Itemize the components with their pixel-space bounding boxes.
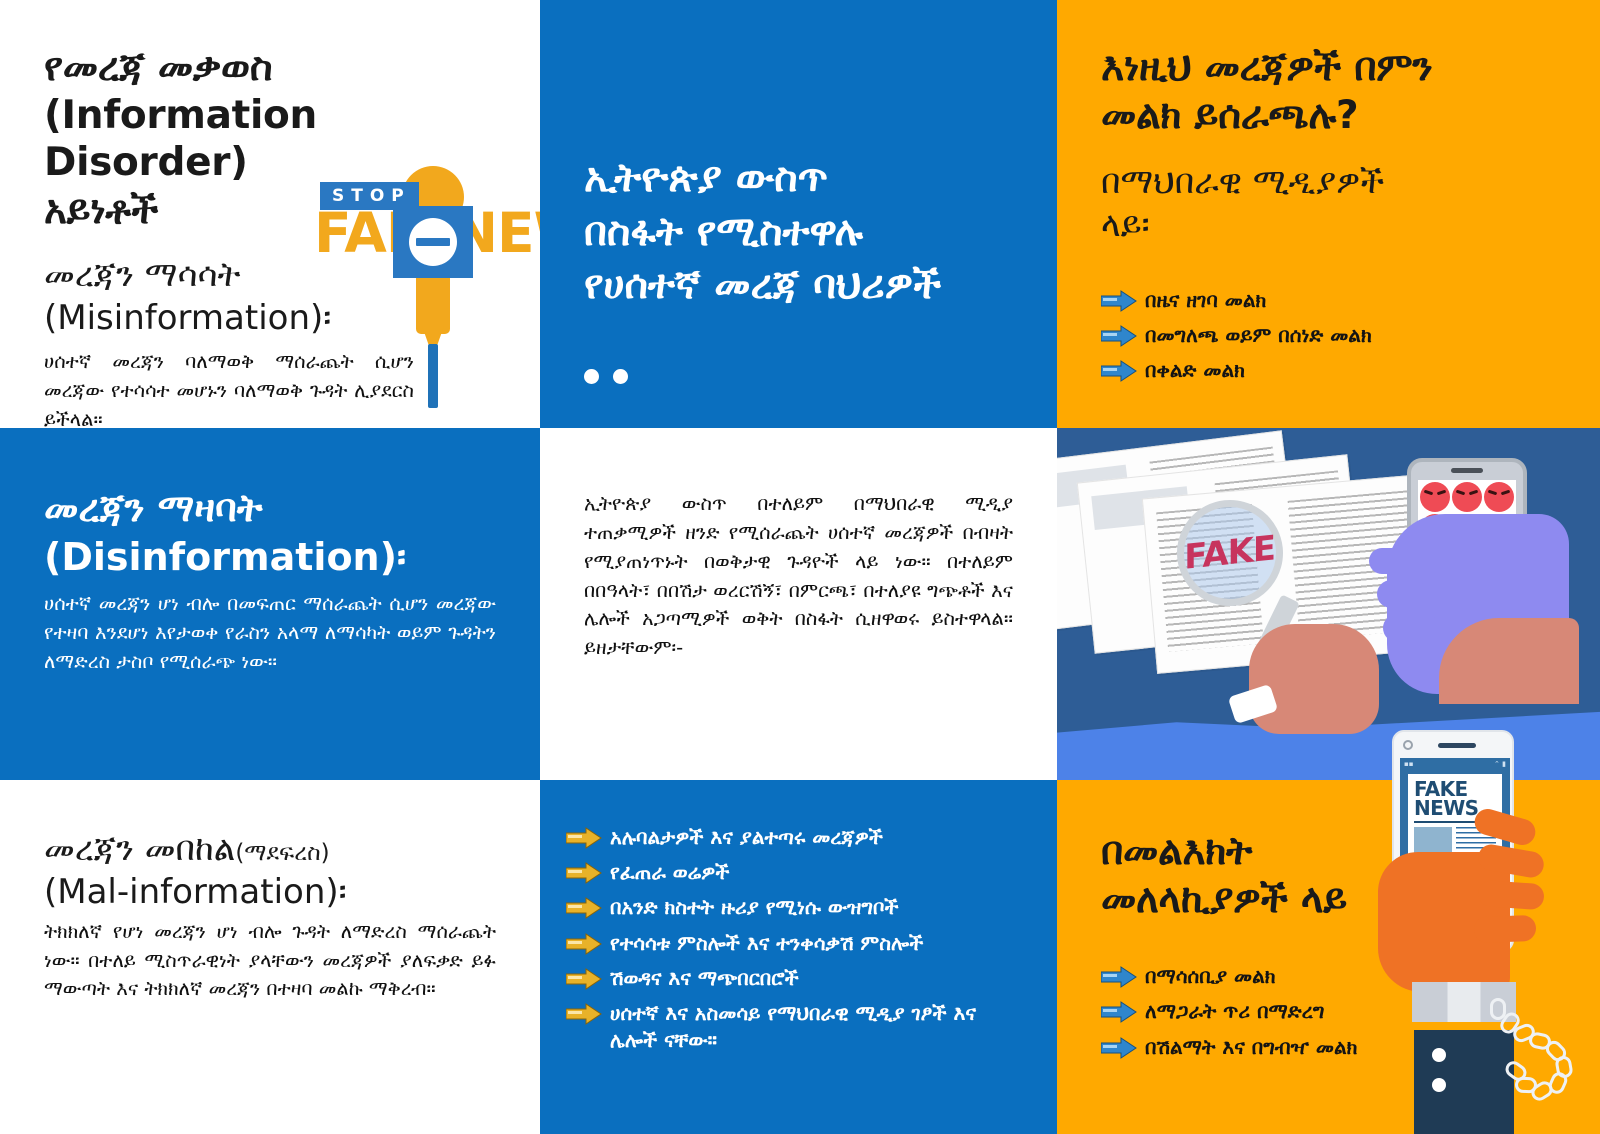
panel-forms-of-fake-news: አሉባልታዎች እና ያልተጣሩ መረጃዎች የፈጠራ ወሬዎች በአንድ ክስ… (540, 780, 1057, 1134)
list-item-label: የተሳሳቱ ምስሎች እና ተንቀሳቃሽ ምስሎች (610, 930, 923, 957)
panel-messaging-apps: በመልእክት መለላኪያዎች ላይ በማሳሰቢያ መልክ ለማጋራት ጥሪ በማ… (1057, 780, 1600, 1134)
panel-ethiopia-headline: ኢትዮጵያ ውስጥ በስፋት የሚስተዋሉ የሀሰተኛ መረጃ ባህሪዎች (540, 0, 1057, 428)
list-item: ለማጋራት ጥሪ በማድረግ (1101, 998, 1556, 1025)
angry-reaction-icon (1452, 482, 1482, 512)
list-item-label: በአንድ ክስተት ዙሪያ የሚነሱ ውዝግቦች (610, 894, 899, 921)
messaging-bullet-list: በማሳሰቢያ መልክ ለማጋራት ጥሪ በማድረግ በሽልማት እና በግብዣ … (1101, 963, 1556, 1061)
malinformation-heading-line-1: መረጃን መበከል(ማደፍረስ) (44, 828, 496, 871)
list-item: አሉባልታዎች እና ያልተጣሩ መረጃዎች (566, 824, 1029, 851)
forms-bullet-list: አሉባልታዎች እና ያልተጣሩ መረጃዎች የፈጠራ ወሬዎች በአንድ ክስ… (566, 824, 1029, 1054)
stop-fake-news-logo: STOP FAKE NEWS (306, 160, 536, 400)
angry-reaction-icon (1484, 482, 1514, 512)
social-media-subheading-line-1: በማህበራዊ ሚዲያዎች (1101, 161, 1556, 204)
list-item-label: የፈጠራ ወሬዎች (610, 859, 729, 886)
social-media-subheading-line-2: ላይ፡ (1101, 204, 1556, 247)
disinformation-heading: መረጃን ማዛባት (Disinformation)፡ (44, 428, 496, 583)
malinformation-body: ትክክለኛ የሆነ መረጃን ሆነ ብሎ ጉዳት ለማድረስ ማሰራጨት ነው።… (44, 918, 496, 1005)
list-item: በአንድ ክስተት ዙሪያ የሚነሱ ውዝግቦች (566, 894, 1029, 921)
list-item: በማሳሰቢያ መልክ (1101, 963, 1556, 990)
question-heading-line-2: መልክ ይሰራጫሉ? (1101, 92, 1556, 140)
arrow-right-icon (1101, 360, 1137, 382)
fake-stamp-label: FAKE (1185, 528, 1276, 578)
malinformation-heading-paren: (ማደፍረስ) (235, 840, 329, 866)
arrow-right-icon (566, 933, 602, 955)
malinformation-heading-amharic: መረጃን መበከል (44, 829, 235, 869)
messaging-heading-line-1: በመልእክት (1101, 828, 1556, 876)
disinformation-body: ሀሰተኛ መረጃን ሆነ ብሎ በመፍጠር ማሰራጨት ሲሆን መረጃው የተዛ… (44, 589, 496, 677)
social-media-bullet-list: በዜና ዘገባ መልክ በመግለጫ ወይም በሰነድ መልክ በቀልድ መልክ (1101, 287, 1556, 385)
microphone-taper-icon (422, 326, 444, 346)
list-item: በሽልማት እና በግብዣ መልክ (1101, 1034, 1556, 1061)
arrow-right-icon (1101, 1001, 1137, 1023)
list-item: በመግለጫ ወይም በሰነድ መልክ (1101, 322, 1556, 349)
list-item-label: ሽወዳና እና ማጭበርበሮች (610, 965, 799, 992)
disinformation-heading-amharic: መረጃን ማዛባት (44, 484, 496, 533)
headline: ኢትዮጵያ ውስጥ በስፋት የሚስተዋሉ የሀሰተኛ መረጃ ባህሪዎች (584, 152, 1013, 313)
panel-information-disorder: የመረጃ መቃወስ (Information Disorder) አይነቶች መ… (0, 0, 540, 428)
headline-line-3: የሀሰተኛ መረጃ ባህሪዎች (584, 259, 1013, 313)
arrow-right-icon (1101, 966, 1137, 988)
list-item: የፈጠራ ወሬዎች (566, 859, 1029, 886)
hand-holding-magnifier-icon (1249, 624, 1379, 734)
microphone-handle-icon (428, 344, 438, 408)
angry-reaction-icon (1420, 482, 1450, 512)
arrow-right-icon (566, 1003, 602, 1025)
list-item-label: በማሳሰቢያ መልክ (1145, 963, 1276, 990)
hand-holding-phone-icon (1387, 514, 1569, 694)
arrow-right-icon (566, 968, 602, 990)
panel-disinformation: መረጃን ማዛባት (Disinformation)፡ ሀሰተኛ መረጃን ሆነ… (0, 428, 540, 780)
infographic-poster: የመረጃ መቃወስ (Information Disorder) አይነቶች መ… (0, 0, 1600, 1134)
decorative-dots (584, 369, 1013, 384)
social-media-subheading: በማህበራዊ ሚዲያዎች ላይ፡ (1101, 161, 1556, 247)
list-item: በዜና ዘገባ መልክ (1101, 287, 1556, 314)
arrow-right-icon (566, 897, 602, 919)
list-item-label: ለማጋራት ጥሪ በማድረግ (1145, 998, 1324, 1025)
panel-mal-information: መረጃን መበከል(ማደፍረስ) (Mal-information)፡ ትክክለ… (0, 780, 540, 1134)
disinformation-heading-english: (Disinformation)፡ (44, 533, 496, 582)
context-body: ኢትዮጵያ ውስጥ በተለይም በማህበራዊ ሚዲያ ተጠቃሚዎች ዘንድ የሚ… (584, 428, 1013, 663)
malinformation-heading-english: (Mal-information)፡ (44, 871, 496, 914)
messaging-heading: በመልእክት መለላኪያዎች ላይ (1101, 828, 1556, 923)
malinformation-heading: መረጃን መበከል(ማደፍረስ) (Mal-information)፡ (44, 780, 496, 914)
question-heading: እነዚህ መረጃዎች በምን መልክ ይሰራጫሉ? (1101, 0, 1556, 139)
arrow-right-icon (1101, 1037, 1137, 1059)
list-item: በቀልድ መልክ (1101, 357, 1556, 384)
headline-line-2: በስፋት የሚስተዋሉ (584, 206, 1013, 260)
arrow-right-icon (566, 827, 602, 849)
arrow-right-icon (566, 862, 602, 884)
list-item-label: በዜና ዘገባ መልክ (1145, 287, 1266, 314)
forearm-icon (1439, 618, 1579, 704)
list-item: የተሳሳቱ ምስሎች እና ተንቀሳቃሽ ምስሎች (566, 930, 1029, 957)
list-item-label: በመግለጫ ወይም በሰነድ መልክ (1145, 322, 1372, 349)
list-item-label: ሀሰተኛ እና አስመሳይ የማህበራዊ ሚዲያ ገፆች እና ሌሎች ናቸው። (610, 1000, 1029, 1054)
list-item: ሀሰተኛ እና አስመሳይ የማህበራዊ ሚዲያ ገፆች እና ሌሎች ናቸው። (566, 1000, 1029, 1054)
prohibition-sign-icon (393, 206, 473, 278)
panel-how-spread-question: እነዚህ መረጃዎች በምን መልክ ይሰራጫሉ? በማህበራዊ ሚዲያዎች ላ… (1057, 0, 1600, 428)
arrow-right-icon (1101, 290, 1137, 312)
list-item-label: በሽልማት እና በግብዣ መልክ (1145, 1034, 1357, 1061)
list-item-label: አሉባልታዎች እና ያልተጣሩ መረጃዎች (610, 824, 883, 851)
list-item-label: በቀልድ መልክ (1145, 357, 1245, 384)
messaging-heading-line-2: መለላኪያዎች ላይ (1101, 876, 1556, 924)
panel-context-text: ኢትዮጵያ ውስጥ በተለይም በማህበራዊ ሚዲያ ተጠቃሚዎች ዘንድ የሚ… (540, 428, 1057, 780)
question-heading-line-1: እነዚህ መረጃዎች በምን (1101, 44, 1556, 92)
illustration-fake-newspapers-and-reactions: FAKE (1057, 428, 1600, 780)
list-item: ሽወዳና እና ማጭበርበሮች (566, 965, 1029, 992)
headline-line-1: ኢትዮጵያ ውስጥ (584, 152, 1013, 206)
arrow-right-icon (1101, 325, 1137, 347)
title-line-1: የመረጃ መቃወስ (44, 44, 496, 92)
